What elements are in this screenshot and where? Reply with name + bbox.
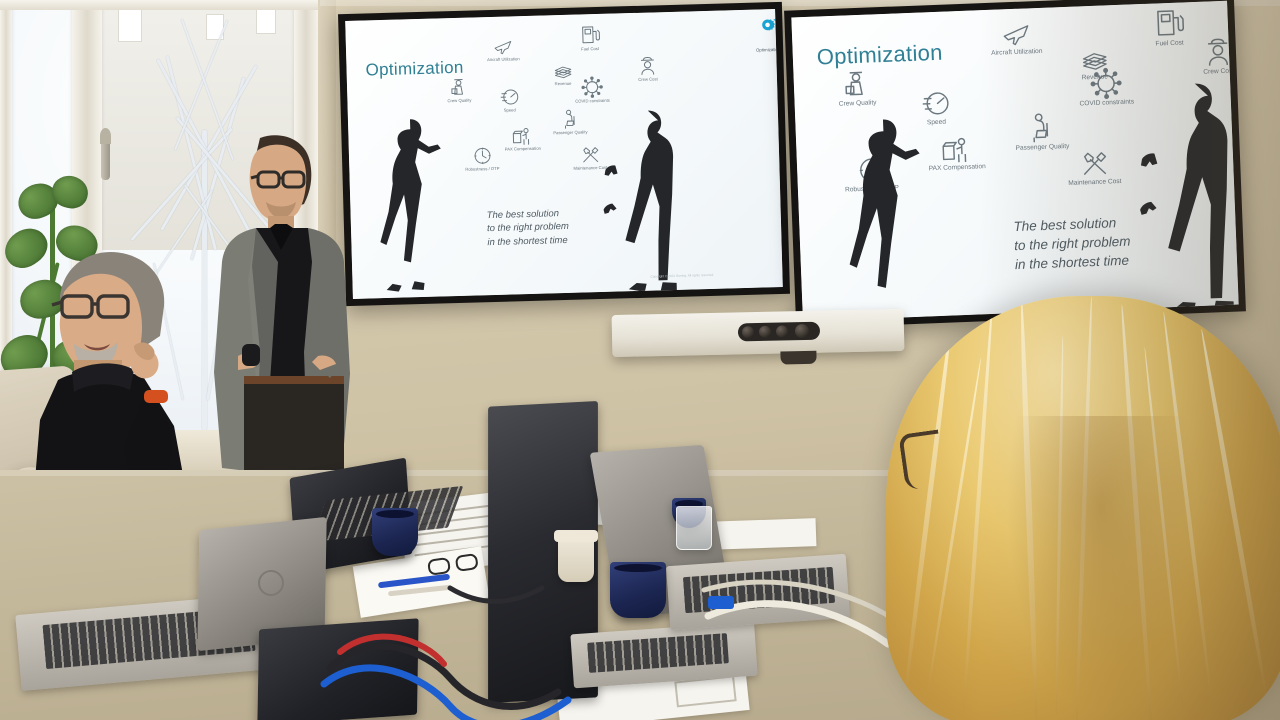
cable-connector xyxy=(708,596,734,609)
icon-label: Aircraft Utilization xyxy=(466,57,540,63)
camera-lens xyxy=(795,324,809,338)
speedometer-icon xyxy=(499,86,521,108)
icon-passenger-quality: Passenger Quality xyxy=(536,108,605,136)
airplane-icon xyxy=(493,36,514,57)
woman-silhouette xyxy=(376,110,453,292)
video-conference-camera-bar[interactable] xyxy=(612,309,905,357)
left-wall-display[interactable]: Optimization Op xyxy=(338,2,790,306)
left-slide-tagline: The best solution to the right problem i… xyxy=(487,207,570,250)
optimization-logo: Optimization xyxy=(737,14,783,53)
icon-label: COVID constraints xyxy=(557,98,627,104)
clock-icon xyxy=(471,145,493,167)
camera-lens xyxy=(759,326,771,338)
window-frame-top xyxy=(0,0,318,10)
payout-person-icon xyxy=(940,135,973,165)
icon-aircraft-utilization: Aircraft Utilization xyxy=(466,36,541,63)
icon-label: Crew Cost xyxy=(619,77,677,83)
icon-label: Passenger Quality xyxy=(536,130,604,136)
wall-shadow xyxy=(980,0,1280,720)
conference-room-scene: Optimization Op xyxy=(0,0,1280,720)
icon-label: Speed xyxy=(482,108,538,114)
crew-member-icon xyxy=(841,66,872,100)
woman-silhouette xyxy=(833,108,945,321)
icon-covid-constraints: COVID constraints xyxy=(557,75,628,104)
icon-robustness-otp: Robustness / OTP xyxy=(449,144,516,172)
seated-passenger-icon xyxy=(560,109,580,131)
camera-lens xyxy=(776,325,788,337)
crew-member-icon xyxy=(449,76,470,99)
icon-crew-cost: Crew Cost xyxy=(618,54,677,83)
icon-label: Robustness / OTP xyxy=(449,166,515,172)
icon-crew-quality: Crew Quality xyxy=(815,65,898,109)
coffee-cup-lid xyxy=(554,530,598,542)
camera-lens xyxy=(742,326,754,338)
logo-label: Optimization xyxy=(738,46,783,53)
gear-sparkle-icon xyxy=(754,15,781,42)
icon-label: Fuel Cost xyxy=(560,46,620,52)
icon-fuel-cost: Fuel Cost xyxy=(559,23,620,52)
icon-label: Crew Quality xyxy=(817,99,899,109)
foreground-woman-glasses xyxy=(898,429,945,490)
pilot-icon xyxy=(637,54,658,77)
camera-mount-bracket xyxy=(780,351,816,365)
left-slide: Optimization Op xyxy=(345,9,783,299)
man-silhouette xyxy=(596,104,685,294)
virus-icon xyxy=(581,76,604,99)
icon-speed: Speed xyxy=(481,86,538,114)
fuel-pump-icon xyxy=(579,24,601,47)
camera-lens-array xyxy=(738,322,820,342)
